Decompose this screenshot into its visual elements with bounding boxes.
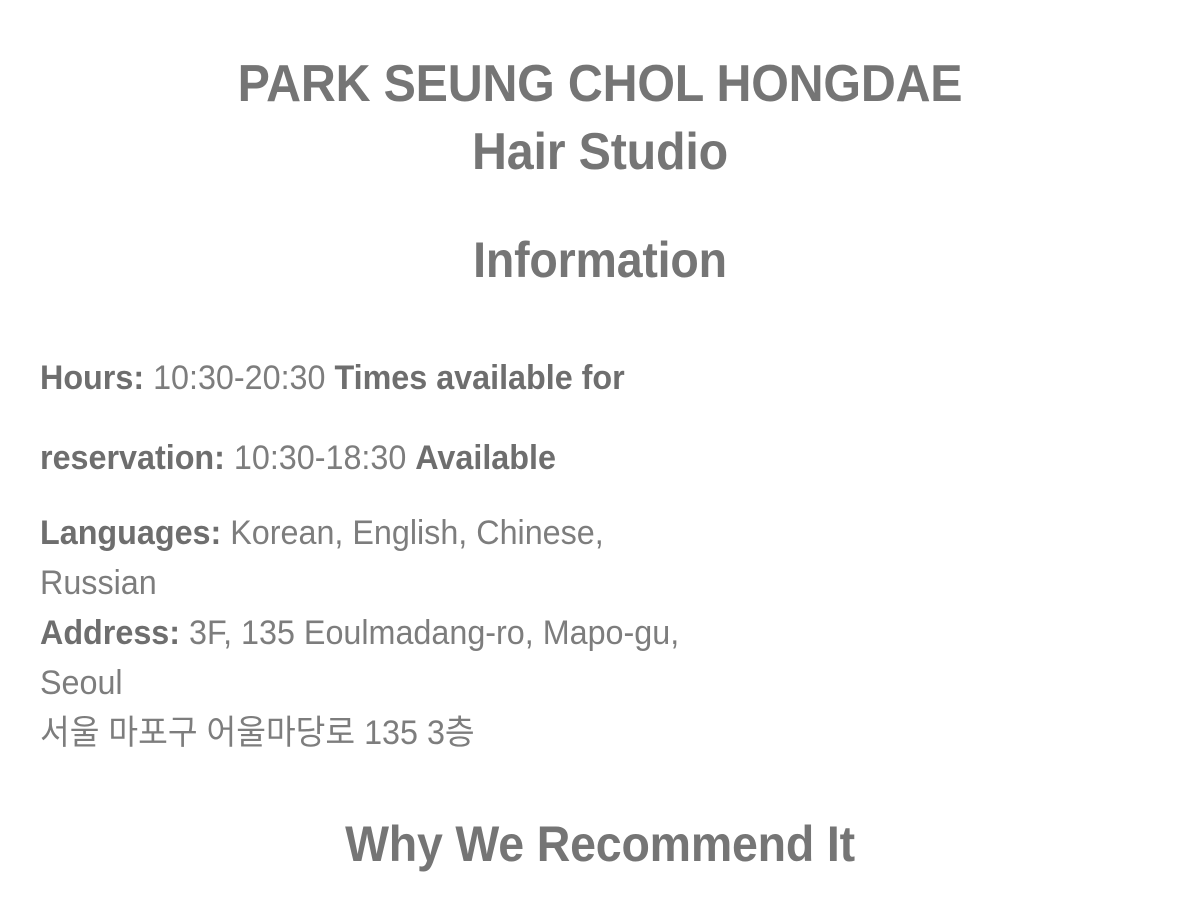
reservation-value: 10:30-18:30 — [234, 439, 406, 477]
address-label: Address: — [40, 614, 180, 652]
page-title-line-2: Hair Studio — [42, 118, 1158, 186]
languages-label: Languages: — [40, 514, 221, 552]
section-heading-information: Information — [42, 228, 1158, 292]
languages-paragraph: Languages: Korean, English, Chinese, Rus… — [40, 508, 705, 608]
reservation-label-part-2: reservation: — [40, 439, 225, 477]
page-title-line-1: PARK SEUNG CHOL HONGDAE — [42, 50, 1158, 118]
hours-label: Hours: — [40, 359, 144, 397]
section-heading-recommend: Why We Recommend It — [42, 812, 1158, 876]
hours-value: 10:30-20:30 — [153, 359, 325, 397]
information-page: PARK SEUNG CHOL HONGDAE Hair Studio Info… — [0, 0, 1200, 900]
address-korean: 서울 마포구 어울마당로 135 3층 — [40, 708, 705, 758]
page-title: PARK SEUNG CHOL HONGDAE Hair Studio — [0, 50, 1200, 186]
reservation-label-part-1: Times available for — [334, 359, 624, 397]
information-content: Hours: 10:30-20:30 Times available for r… — [40, 338, 740, 758]
reservation-status: Available — [415, 439, 556, 477]
address-paragraph: Address: 3F, 135 Eoulmadang-ro, Mapo-gu,… — [40, 608, 705, 758]
hours-paragraph: Hours: 10:30-20:30 Times available for r… — [40, 338, 705, 498]
